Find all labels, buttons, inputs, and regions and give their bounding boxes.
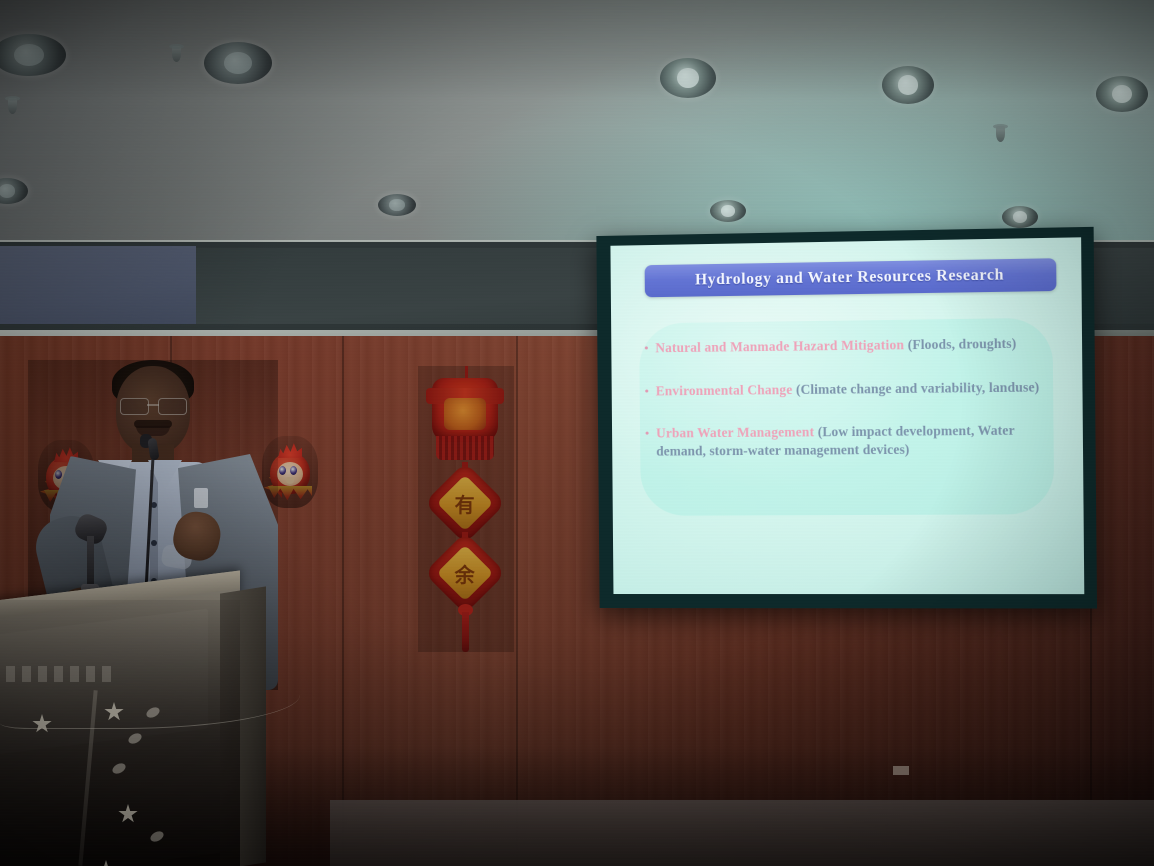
garland-star [118,804,138,824]
bullet-lead-text: Urban Water Management [656,424,818,440]
bullet-detail-text: (Climate change and variability, landuse… [796,379,1039,397]
bullet-glyph: • [638,425,656,460]
garland-star [96,860,116,866]
star-garland [0,672,360,866]
knot-character-lower: 余 [455,559,475,588]
ceiling-downlight [1002,206,1038,228]
bullet-lead-text: Natural and Manmade Hazard Mitigation [655,337,908,355]
ceiling-downlight [0,34,66,76]
presentation-slide: Hydrology and Water Resources Research •… [610,237,1084,594]
projection-screen: Hydrology and Water Resources Research •… [596,227,1097,609]
slide-bullet-list: • Natural and Manmade Hazard Mitigation … [637,334,1062,460]
slide-bullet-item: • Environmental Change (Climate change a… [638,377,1062,399]
knot-character-upper: 有 [455,489,475,518]
handheld-microphone [82,516,98,592]
wall-marking [893,766,909,775]
knot-medallion-lower: 余 [424,532,506,614]
hair [112,360,194,406]
bullet-glyph: • [637,339,655,357]
sprinkler-head [996,126,1005,142]
ceiling-downlight [882,66,934,104]
ceiling-downlight [0,178,28,204]
shirt-cuff [160,544,193,571]
floor [330,800,1154,866]
slide-bullet-item: • Urban Water Management (Low impact dev… [638,421,1062,460]
collar [98,460,132,494]
right-hand [170,508,225,565]
ceiling-downlight [204,42,272,84]
bullet-glyph: • [638,382,656,400]
knot-lantern-top [432,378,498,442]
knot-medallion-upper: 有 [424,462,506,544]
sprinkler-head [8,98,17,114]
glasses-icon [120,398,188,413]
slide-title: Hydrology and Water Resources Research [695,266,1004,289]
bullet-detail-text: (Floods, droughts) [908,336,1017,353]
garland-leaf [149,829,166,844]
garland-leaf [127,731,144,746]
chinese-new-year-knot: 有 余 [418,366,514,652]
wall-panel-blue [0,246,196,324]
ceiling [0,0,1154,248]
garland-leaf [111,761,128,776]
moustache [134,420,172,428]
sprinkler-head [172,46,181,62]
ceiling-downlight [660,58,716,98]
ceiling-downlight [1096,76,1148,112]
slide-title-banner: Hydrology and Water Resources Research [645,258,1057,297]
ceiling-downlight [378,194,416,216]
knot-tassel [462,612,469,652]
ceiling-downlight [710,200,746,222]
name-badge [194,488,208,508]
conference-photo-scene: 有 余 Hydrology and Water Resources Resear… [0,0,1154,866]
bullet-lead-text: Environmental Change [656,381,796,398]
